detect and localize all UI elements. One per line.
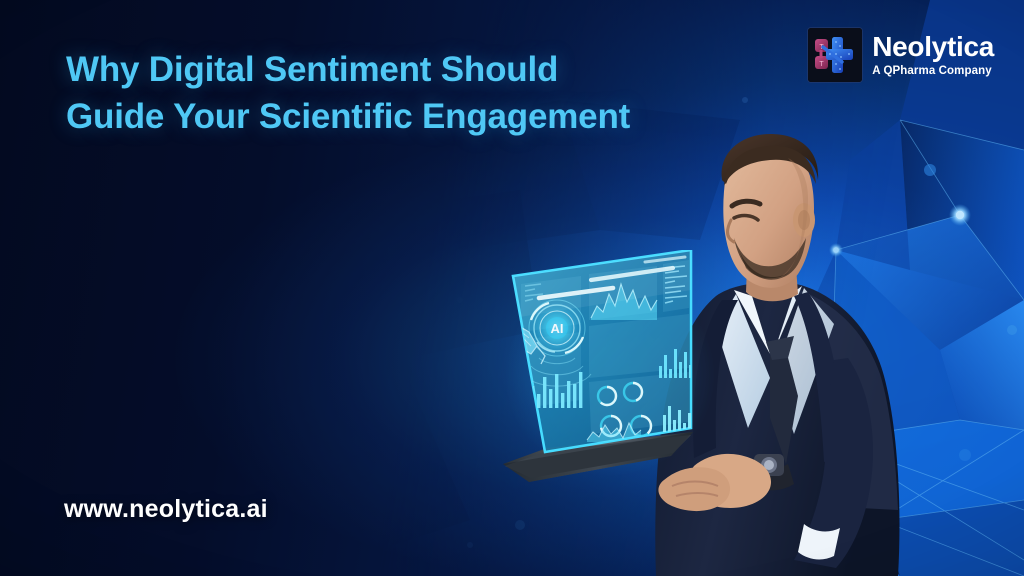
molecule-cross-icon: T T xyxy=(808,28,862,82)
brand-tagline: A QPharma Company xyxy=(872,66,994,78)
page-title: Why Digital Sentiment Should Guide Your … xyxy=(66,46,746,140)
svg-text:T: T xyxy=(820,61,825,68)
brand-logo[interactable]: T T Neolytica A QPharma Company xyxy=(808,28,994,82)
ai-label: AI xyxy=(551,321,564,336)
banner-canvas: AI xyxy=(0,0,1024,576)
page-title-line-1: Why Digital Sentiment Should xyxy=(66,46,746,93)
hologram-screen[interactable]: AI xyxy=(501,250,717,452)
page-title-line-2: Guide Your Scientific Engagement xyxy=(66,93,746,140)
brand-logo-text: Neolytica A QPharma Company xyxy=(872,33,994,78)
holographic-dashboard[interactable]: AI xyxy=(495,250,725,490)
brand-name: Neolytica xyxy=(872,33,994,61)
website-url[interactable]: www.neolytica.ai xyxy=(64,495,268,524)
